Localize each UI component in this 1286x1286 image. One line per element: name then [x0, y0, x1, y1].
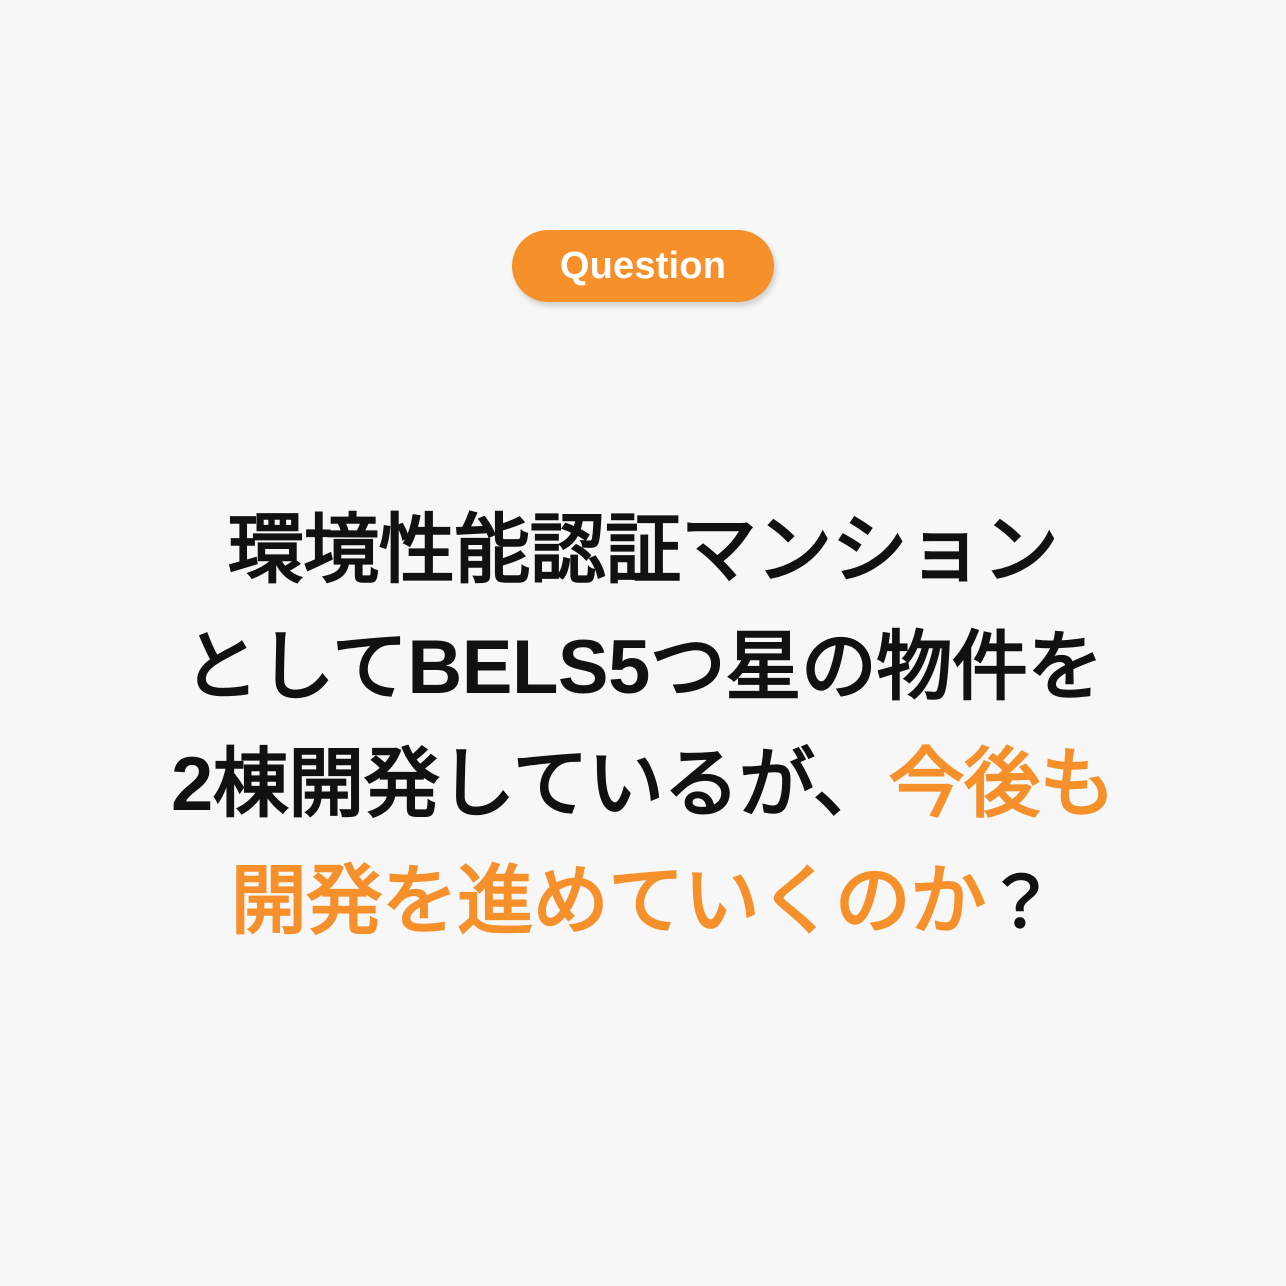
headline-line-4-highlight-segment: 開発を進めていくのか: [231, 859, 986, 944]
question-badge-label: Question: [560, 247, 726, 285]
question-slide: Question 環境性能認証マンション としてBELS5つ星の物件を 2棟開発…: [0, 0, 1286, 1286]
headline-line-3-highlight-segment: 今後も: [888, 742, 1115, 827]
badge-row: Question: [0, 230, 1286, 302]
headline-text: 環境性能認証マンション としてBELS5つ星の物件を 2棟開発しているが、今後も…: [0, 492, 1286, 962]
headline-line-1: 環境性能認証マンション: [0, 492, 1286, 609]
question-badge: Question: [512, 230, 774, 302]
headline-line-3-black-segment: 2棟開発しているが、: [171, 742, 888, 827]
headline-line-4: 開発を進めていくのか？: [0, 843, 1286, 962]
headline-line-2-segment: としてBELS5つ星の物件を: [183, 625, 1103, 710]
headline-line-3: 2棟開発しているが、今後も: [0, 726, 1286, 843]
headline-question-mark: ？: [986, 864, 1056, 942]
headline-line-1-segment: 環境性能認証マンション: [228, 508, 1059, 593]
headline-line-2: としてBELS5つ星の物件を: [0, 609, 1286, 726]
